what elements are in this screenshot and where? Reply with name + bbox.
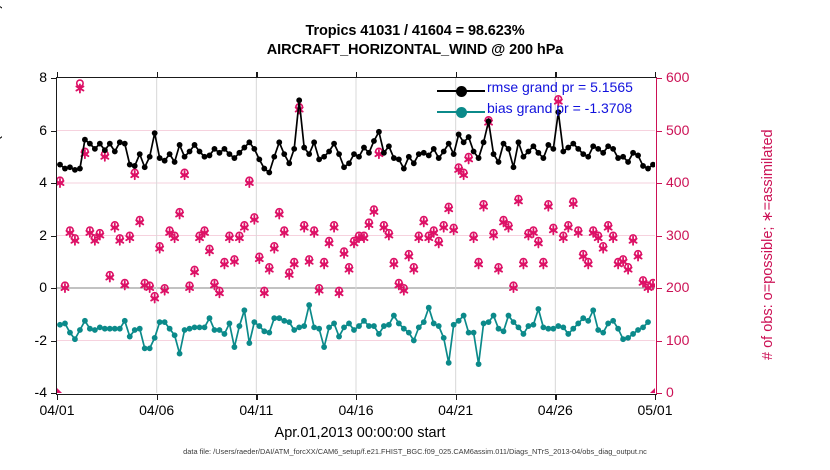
y-axis-left-tick-label: 4 <box>7 174 47 190</box>
data-file-footer: data file: /Users/raeder/DAI/ATM_forcXX/… <box>0 447 830 456</box>
x-axis-tick-label: 04/06 <box>122 402 192 418</box>
y-axis-right-tick-label: 0 <box>666 384 712 400</box>
legend-marker-rmse <box>456 86 467 97</box>
y-axis-left-tick-label: 8 <box>7 69 47 85</box>
y-axis-right-tick <box>656 341 662 342</box>
legend-row-bias: bias grand pr = -1.3708 <box>437 101 652 122</box>
y-axis-left-tick-label: 0 <box>7 279 47 295</box>
x-axis-tick-top <box>456 72 457 78</box>
x-axis-tick-label: 04/16 <box>321 402 391 418</box>
title-line-1: Tropics 41031 / 41604 = 98.623% <box>0 22 830 41</box>
legend-label-rmse: rmse grand pr = 5.1565 <box>487 79 633 95</box>
x-axis-tick-label: 04/26 <box>520 402 590 418</box>
y-axis-left-tick <box>51 183 57 184</box>
plot-area[interactable]: -4-202468010020030040050060004/0104/0604… <box>56 77 657 395</box>
legend-row-rmse: rmse grand pr = 5.1565 <box>437 80 652 101</box>
y-axis-left-tick <box>51 341 57 342</box>
x-axis-tick <box>356 394 357 400</box>
x-axis-tick <box>655 394 656 400</box>
x-axis-title: Apr.01,2013 00:00:00 start <box>0 425 720 441</box>
title-line-2: AIRCRAFT_HORIZONTAL_WIND @ 200 hPa <box>0 41 830 60</box>
x-axis-tick-top <box>256 72 257 78</box>
y-axis-left-tick-label: 2 <box>7 227 47 243</box>
x-axis-tick <box>256 394 257 400</box>
y-axis-right-title: # of obs: o=possible; ∗=assimilated <box>760 129 776 360</box>
y-axis-right-tick <box>656 183 662 184</box>
y-axis-right-tick <box>656 393 662 394</box>
y-axis-left-tick <box>51 78 57 79</box>
y-axis-left-tick <box>51 236 57 237</box>
y-axis-left-tick-label: -4 <box>7 384 47 400</box>
x-axis-tick-label: 04/11 <box>221 402 291 418</box>
x-axis-tick <box>157 394 158 400</box>
chart-legend: rmse grand pr = 5.1565 bias grand pr = -… <box>437 80 652 122</box>
y-axis-right-tick <box>656 131 662 132</box>
y-axis-left-title: rmse and bias (model - observation) <box>0 4 3 236</box>
x-axis-tick-top <box>655 72 656 78</box>
x-axis-tick-top <box>157 72 158 78</box>
y-axis-right-tick <box>656 288 662 289</box>
y-axis-left-tick-label: -2 <box>7 332 47 348</box>
y-axis-left-tick-label: 6 <box>7 122 47 138</box>
x-axis-tick-label: 05/01 <box>620 402 690 418</box>
x-axis-tick <box>555 394 556 400</box>
x-axis-tick-top <box>555 72 556 78</box>
y-axis-right-tick-label: 400 <box>666 174 712 190</box>
y-axis-right-tick-label: 300 <box>666 227 712 243</box>
y-axis-right-tick <box>656 236 662 237</box>
chart-page: Tropics 41031 / 41604 = 98.623% AIRCRAFT… <box>0 0 830 470</box>
y-axis-left-tick <box>51 131 57 132</box>
legend-label-bias: bias grand pr = -1.3708 <box>487 100 632 116</box>
x-axis-tick-label: 04/21 <box>421 402 491 418</box>
x-axis-tick-top <box>356 72 357 78</box>
y-axis-right-tick-label: 500 <box>666 122 712 138</box>
plot-canvas <box>57 78 655 393</box>
y-axis-right-tick <box>656 78 662 79</box>
y-axis-right-tick-label: 100 <box>666 332 712 348</box>
y-axis-right-tick-label: 600 <box>666 69 712 85</box>
x-axis-tick <box>456 394 457 400</box>
y-axis-left-tick <box>51 288 57 289</box>
chart-title: Tropics 41031 / 41604 = 98.623% AIRCRAFT… <box>0 22 830 60</box>
x-axis-tick-top <box>57 72 58 78</box>
y-axis-right-tick-label: 200 <box>666 279 712 295</box>
x-axis-tick <box>57 394 58 400</box>
legend-marker-bias <box>456 107 467 118</box>
x-axis-tick-label: 04/01 <box>22 402 92 418</box>
